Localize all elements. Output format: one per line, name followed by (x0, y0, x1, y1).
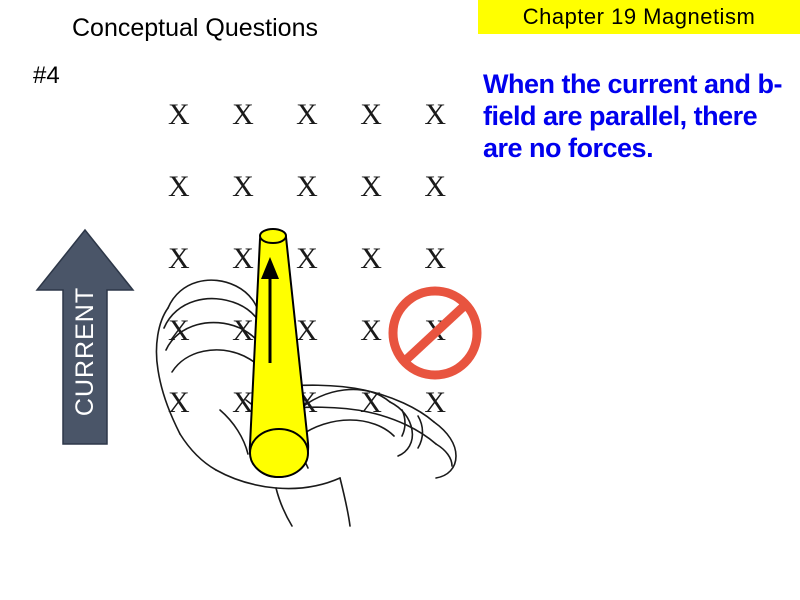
question-number: #4 (33, 62, 60, 90)
rod-up-arrow-icon (245, 255, 295, 365)
chapter-banner-text: Chapter 19 Magnetism (523, 4, 756, 30)
field-x-mark: X (424, 100, 446, 172)
field-x-mark: X (232, 100, 254, 172)
no-entry-icon (385, 283, 485, 383)
field-x-mark: X (360, 100, 382, 172)
field-x-mark: X (168, 100, 190, 172)
page-title: Conceptual Questions (72, 14, 318, 43)
current-arrow-icon (33, 228, 138, 446)
field-x-mark: X (296, 100, 318, 172)
chapter-banner: Chapter 19 Magnetism (478, 0, 800, 34)
field-row: X X X X X (168, 100, 446, 172)
field-x-mark: X (424, 172, 446, 244)
field-x-mark: X (360, 172, 382, 244)
field-x-mark: X (168, 172, 190, 244)
note-text: When the current and b-field are paralle… (483, 68, 783, 164)
